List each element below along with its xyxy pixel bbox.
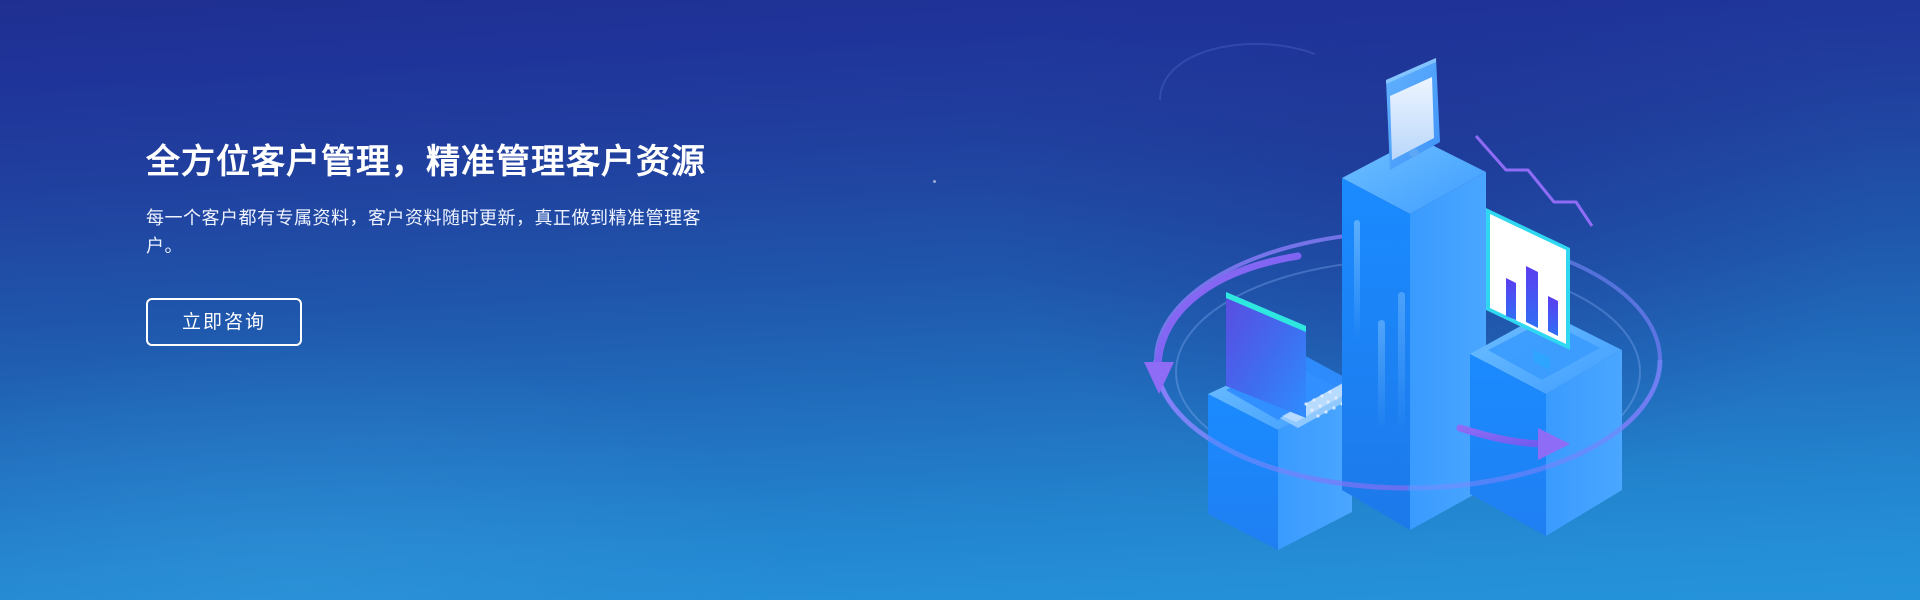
chart-bar [1526, 266, 1538, 328]
monitor-device [1486, 208, 1600, 380]
hero-subtitle: 每一个客户都有专属资料，客户资料随时更新，真正做到精准管理客户。 [146, 204, 726, 260]
background-glow-bottom [0, 330, 800, 600]
chart-bar [1548, 296, 1558, 336]
glow-stripe [1398, 292, 1405, 432]
hero-copy: 全方位客户管理，精准管理客户资源 每一个客户都有专属资料，客户资料随时更新，真正… [146, 138, 786, 346]
sparkle-dot [933, 180, 936, 183]
tablet-home-button [1409, 149, 1419, 157]
center-pedestal [1342, 138, 1486, 530]
chart-bar [1506, 278, 1516, 320]
glow-stripe [1354, 220, 1360, 340]
consult-now-button[interactable]: 立即咨询 [146, 298, 302, 346]
glow-stripe [1378, 320, 1385, 430]
hero-illustration [1130, 20, 1690, 580]
page-title: 全方位客户管理，精准管理客户资源 [146, 138, 786, 186]
hero-banner: 全方位客户管理，精准管理客户资源 每一个客户都有专属资料，客户资料随时更新，真正… [0, 0, 1920, 600]
background-arc [1160, 44, 1315, 100]
